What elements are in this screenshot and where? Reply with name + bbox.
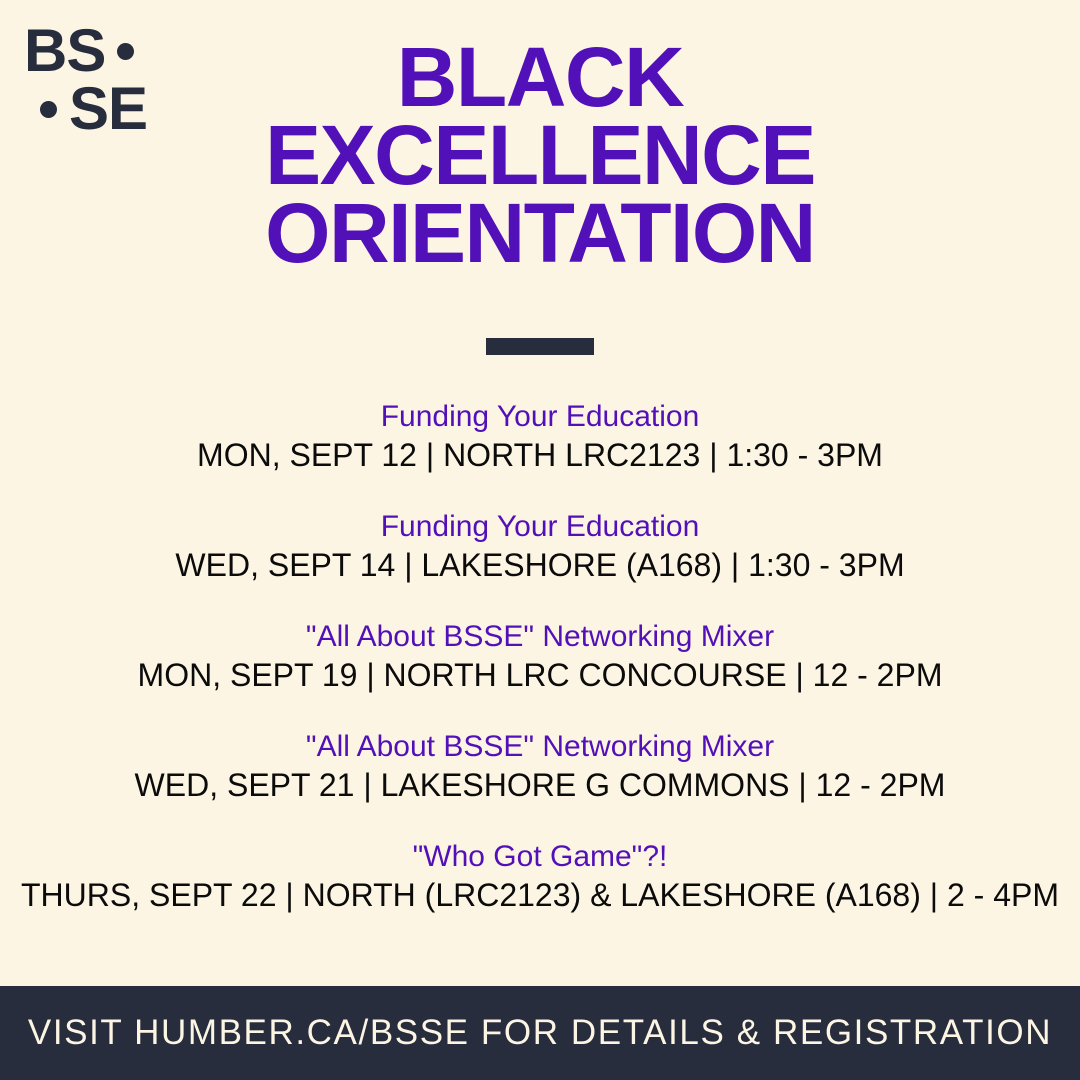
- footer-registration-text: VISIT HUMBER.CA/BSSE FOR DETAILS & REGIS…: [28, 1013, 1052, 1053]
- event-item: Funding Your Education WED, SEPT 14 | LA…: [0, 508, 1080, 585]
- footer-banner: VISIT HUMBER.CA/BSSE FOR DETAILS & REGIS…: [0, 986, 1080, 1080]
- title-divider: [486, 338, 594, 355]
- title-line-excellence: EXCELLENCE: [0, 116, 1080, 194]
- event-item: Funding Your Education MON, SEPT 12 | NO…: [0, 398, 1080, 475]
- event-details: THURS, SEPT 22 | NORTH (LRC2123) & LAKES…: [0, 876, 1080, 915]
- event-item: "Who Got Game"?! THURS, SEPT 22 | NORTH …: [0, 838, 1080, 915]
- poster-canvas: BS SE BLACK EXCELLENCE ORIENTATION Fundi…: [0, 0, 1080, 1080]
- events-list: Funding Your Education MON, SEPT 12 | NO…: [0, 398, 1080, 915]
- event-details: MON, SEPT 19 | NORTH LRC CONCOURSE | 12 …: [0, 656, 1080, 695]
- title-line-orientation: ORIENTATION: [0, 194, 1080, 272]
- event-title: "All About BSSE" Networking Mixer: [0, 618, 1080, 656]
- event-title: Funding Your Education: [0, 508, 1080, 546]
- event-details: WED, SEPT 14 | LAKESHORE (A168) | 1:30 -…: [0, 546, 1080, 585]
- event-title: "Who Got Game"?!: [0, 838, 1080, 876]
- event-item: "All About BSSE" Networking Mixer WED, S…: [0, 728, 1080, 805]
- title-line-black: BLACK: [0, 38, 1080, 116]
- event-title: "All About BSSE" Networking Mixer: [0, 728, 1080, 766]
- page-title: BLACK EXCELLENCE ORIENTATION: [0, 38, 1080, 272]
- event-item: "All About BSSE" Networking Mixer MON, S…: [0, 618, 1080, 695]
- event-details: MON, SEPT 12 | NORTH LRC2123 | 1:30 - 3P…: [0, 436, 1080, 475]
- event-title: Funding Your Education: [0, 398, 1080, 436]
- event-details: WED, SEPT 21 | LAKESHORE G COMMONS | 12 …: [0, 766, 1080, 805]
